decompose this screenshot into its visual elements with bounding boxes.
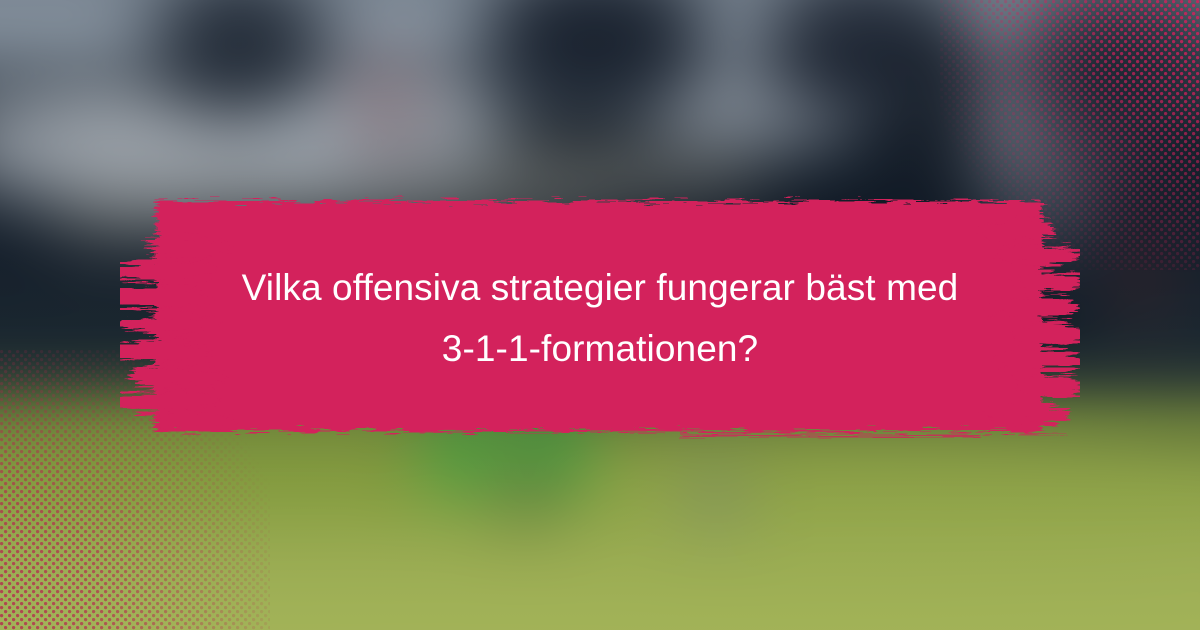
banner-title-line-2: 3-1-1-formationen? bbox=[442, 322, 758, 377]
social-share-card: Vilka offensiva strategier fungerar bäst… bbox=[0, 0, 1200, 630]
banner-title-line-1: Vilka offensiva strategier fungerar bäst… bbox=[242, 261, 959, 316]
banner-title-block: Vilka offensiva strategier fungerar bäst… bbox=[120, 185, 1080, 447]
brush-stroke-banner: Vilka offensiva strategier fungerar bäst… bbox=[120, 185, 1080, 447]
